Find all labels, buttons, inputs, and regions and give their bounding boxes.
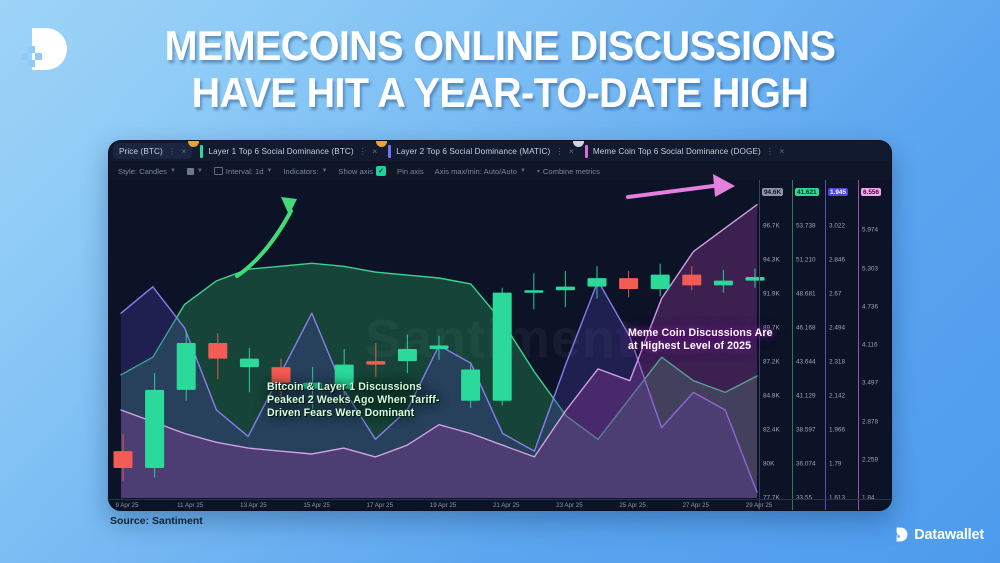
x-axis-tick: 15 Apr 25 [303,502,330,509]
x-axis-tick: 25 Apr 25 [619,502,646,509]
x-axis-tick: 29 Apr 25 [746,502,773,509]
pin-axis-label: Pin axis [397,167,424,176]
coin-badge-icon [376,140,387,147]
tab-label: Layer 1 Top 6 Social Dominance (BTC) [208,147,353,156]
axis-current-value: 6.556 [861,188,881,196]
annotation-memecoin-high: Meme Coin Discussions Are at Highest Lev… [628,327,773,353]
axis-layer1-btc[interactable]: 41.62153.73851.21048.68146.16843.64441.1… [792,180,825,511]
x-axis-tick: 21 Apr 25 [493,502,520,509]
page-title: MEMECOINS ONLINE DISCUSSIONS HAVE HIT A … [30,22,970,116]
axis-tick: 43.644 [796,359,816,366]
candle-body [588,278,607,286]
close-icon[interactable]: × [779,146,784,156]
tab-label: Meme Coin Top 6 Social Dominance (DOGE) [593,147,761,156]
axis-tick: 94.3K [763,257,780,264]
chevron-down-icon: ▼ [266,168,272,174]
coin-badge-icon [573,140,584,147]
calendar-icon [214,167,223,175]
datawallet-d-icon [892,526,909,543]
show-axis-toggle[interactable]: Show axis ✓ [338,166,386,176]
axis-tick: 41.129 [796,393,816,400]
datawallet-wordmark: Datawallet [914,527,984,543]
axis-tick: 1.966 [829,427,845,434]
check-icon[interactable]: ✓ [376,166,386,176]
style-label: Style: Candles [118,167,167,176]
kebab-icon[interactable]: ⋮ [555,147,564,156]
candle-body [177,343,196,390]
x-axis-dates: 9 Apr 2511 Apr 2513 Apr 2515 Apr 2517 Ap… [109,499,892,511]
chart-type-selector[interactable]: ▼ [187,168,203,175]
indicators-label: Indicators: [283,167,318,176]
x-axis-tick: 9 Apr 25 [115,502,138,509]
axis-tick: 4.736 [862,303,878,310]
combine-metrics-label: Combine metrics [543,167,600,176]
close-icon[interactable]: × [372,146,377,156]
tab-price-btc[interactable]: Price (BTC) ⋮ × [113,143,192,159]
candle-body [556,287,575,291]
axis-tick: 91.9K [763,291,780,298]
annotation-layer1-peak: Bitcoin & Layer 1 Discussions Peaked 2 W… [267,381,439,420]
axis-current-value: 41.621 [795,188,819,196]
santiment-chart-window: Price (BTC) ⋮ × Layer 1 Top 6 Social Dom… [108,140,892,511]
show-axis-label: Show axis [338,167,373,176]
axis-tick: 51.210 [796,257,816,264]
combine-metrics-toggle[interactable]: ▾ Combine metrics [537,167,600,176]
axis-tick: 36.074 [796,461,816,468]
axis-tick: 1.79 [829,461,841,468]
x-axis-tick: 17 Apr 25 [367,502,394,509]
chevron-down-icon: ▼ [170,168,176,174]
axis-tick: 2.142 [829,393,845,400]
candle-body [366,361,385,365]
x-axis-tick: 27 Apr 25 [683,502,710,509]
candle-body [682,275,701,286]
candle-body [493,293,512,401]
chevron-down-icon: ▼ [197,168,203,174]
x-axis-tick: 13 Apr 25 [240,502,267,509]
infographic-canvas: MEMECOINS ONLINE DISCUSSIONS HAVE HIT A … [0,0,1000,563]
chevron-down-icon: ▼ [520,168,526,174]
candle-body [145,390,164,468]
pin-axis-toggle[interactable]: Pin axis [397,167,424,176]
axis-minmax-selector[interactable]: Axis max/min: Auto/Auto ▼ [435,167,526,176]
axis-current-value: 1.945 [828,188,848,196]
tab-color-swatch [200,145,203,158]
chevron-down-icon: ▼ [321,168,327,174]
tab-color-swatch [388,145,391,158]
candle-body [430,345,449,349]
axis-memecoin-doge[interactable]: 6.5565.9745.3034.7364.1163.4972.8782.259… [858,180,891,511]
axis-tick: 2.846 [829,257,845,264]
axis-current-value: 94.6K [762,188,783,196]
candle-body [398,349,417,361]
candle-body [524,290,543,293]
datawallet-footer-logo: Datawallet [892,526,984,543]
tab-label: Price (BTC) [119,147,163,156]
candle-body [114,451,133,468]
candle-body [240,359,259,367]
axis-tick: 4.116 [862,342,878,349]
x-axis-tick: 11 Apr 25 [177,502,203,509]
candle-body [208,343,227,359]
tab-label: Layer 2 Top 6 Social Dominance (MATIC) [396,147,550,156]
candle-body [461,369,480,400]
chart-plot-area[interactable]: Santiment 94.6K96.7K94.3K91.9K89.7K87.2K… [109,180,891,511]
chart-toolbar: Style: Candles ▼ ▼ Interval: 1d ▼ Indica… [109,162,891,180]
axis-tick: 46.168 [796,325,816,332]
tab-layer1-btc[interactable]: Layer 1 Top 6 Social Dominance (BTC) ⋮ × [194,141,382,161]
axis-tick: 2.494 [829,325,845,332]
metric-tab-strip: Price (BTC) ⋮ × Layer 1 Top 6 Social Dom… [109,141,891,162]
candle-body [651,275,670,289]
candle-body [714,281,733,286]
headline-line-2: HAVE HIT A YEAR-TO-DATE HIGH [30,69,970,116]
axis-tick: 80K [763,461,774,468]
axis-tick: 82.4K [763,427,780,434]
kebab-icon[interactable]: ⋮ [766,147,775,156]
axis-tick: 53.738 [796,223,816,230]
kebab-icon[interactable]: ⋮ [359,147,368,156]
candle-body [619,278,638,289]
axis-tick: 2.67 [829,291,841,298]
axis-tick: 2.878 [862,418,878,425]
axis-tick: 96.7K [763,223,780,230]
axis-tick: 5.974 [862,227,878,234]
interval-label: Interval: 1d [226,167,264,176]
axis-tick: 3.022 [829,223,845,230]
axis-tick: 5.303 [862,265,878,272]
axis-tick: 3.497 [862,380,878,387]
x-axis-tick: 19 Apr 25 [430,502,457,509]
axis-layer2-matic[interactable]: 1.9453.0222.8462.672.4942.3182.1421.9661… [825,180,858,511]
close-icon[interactable]: × [569,146,574,156]
axis-tick: 84.8K [763,393,780,400]
chevron-down-icon: ▾ [537,168,540,175]
indicators-selector[interactable]: Indicators: ▼ [283,167,327,176]
interval-selector[interactable]: Interval: 1d ▼ [214,167,273,176]
axis-tick: 48.681 [796,291,816,298]
tab-layer2-matic[interactable]: Layer 2 Top 6 Social Dominance (MATIC) ⋮… [382,141,579,161]
tab-memecoin-doge[interactable]: Meme Coin Top 6 Social Dominance (DOGE) … [579,141,790,161]
kebab-icon[interactable]: ⋮ [168,147,177,156]
axis-tick: 2.318 [829,359,845,366]
square-icon [187,168,194,175]
axis-tick: 2.259 [862,456,878,463]
tab-color-swatch [585,145,588,158]
source-credit: Source: Santiment [110,515,203,527]
close-icon[interactable]: × [181,146,186,156]
price-axis-group: 94.6K96.7K94.3K91.9K89.7K87.2K84.8K82.4K… [759,180,891,511]
coin-badge-icon [188,140,199,147]
headline-line-1: MEMECOINS ONLINE DISCUSSIONS [30,22,970,69]
axis-minmax-label: Axis max/min: Auto/Auto [435,167,517,176]
x-axis-tick: 23 Apr 25 [556,502,583,509]
axis-tick: 87.2K [763,359,780,366]
axis-tick: 38.597 [796,427,816,434]
style-selector[interactable]: Style: Candles ▼ [118,167,176,176]
